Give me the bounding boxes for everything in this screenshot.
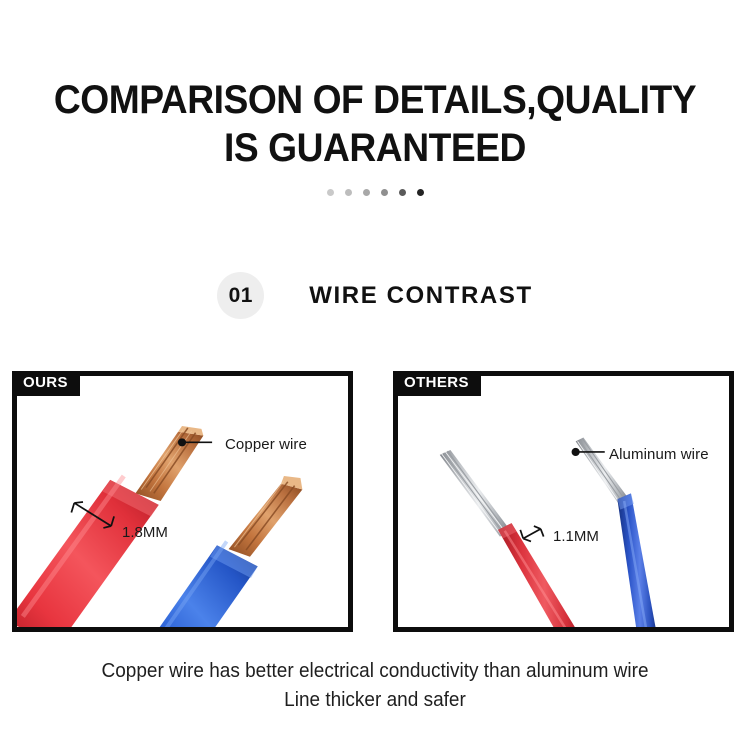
panel-ours: OURS	[12, 371, 353, 632]
section-number-badge: 01	[217, 272, 264, 319]
others-red-aluminum-core	[440, 450, 511, 537]
page-title: COMPARISON OF DETAILS,QUALITY IS GUARANT…	[26, 76, 724, 172]
dot-2-icon	[345, 189, 352, 196]
dot-1-icon	[327, 189, 334, 196]
others-blue-jacket	[617, 493, 658, 627]
product-detail-page: COMPARISON OF DETAILS,QUALITY IS GUARANT…	[0, 0, 750, 750]
others-callout-label: Aluminum wire	[609, 446, 709, 463]
section-title: WIRE CONTRAST	[309, 282, 532, 310]
dot-5-icon	[399, 189, 406, 196]
panel-ours-tag: OURS	[12, 371, 80, 396]
dot-4-icon	[381, 189, 388, 196]
others-dimension-label: 1.1MM	[553, 528, 599, 545]
caption-line-2: Line thicker and safer	[19, 686, 732, 715]
comparison-caption: Copper wire has better electrical conduc…	[19, 657, 732, 715]
page-header: COMPARISON OF DETAILS,QUALITY IS GUARANT…	[0, 76, 750, 196]
ours-red-jacket	[17, 476, 159, 627]
others-dimension-bracket	[520, 526, 543, 541]
ours-wire-photo	[17, 376, 348, 627]
section-heading: 01 WIRE CONTRAST	[0, 272, 750, 319]
others-wire-photo	[398, 376, 729, 627]
caption-line-1: Copper wire has better electrical conduc…	[19, 657, 732, 686]
ours-blue-copper-core	[229, 476, 303, 557]
ours-callout-label: Copper wire	[225, 436, 307, 453]
ours-red-copper-core	[135, 426, 203, 501]
panel-others: OTHERS	[393, 371, 734, 632]
dot-3-icon	[363, 189, 370, 196]
panel-others-tag: OTHERS	[393, 371, 481, 396]
ours-blue-jacket	[133, 541, 257, 627]
ours-dimension-label: 1.8MM	[122, 524, 168, 541]
decorative-dot-row	[0, 189, 750, 196]
dot-6-icon	[417, 189, 424, 196]
